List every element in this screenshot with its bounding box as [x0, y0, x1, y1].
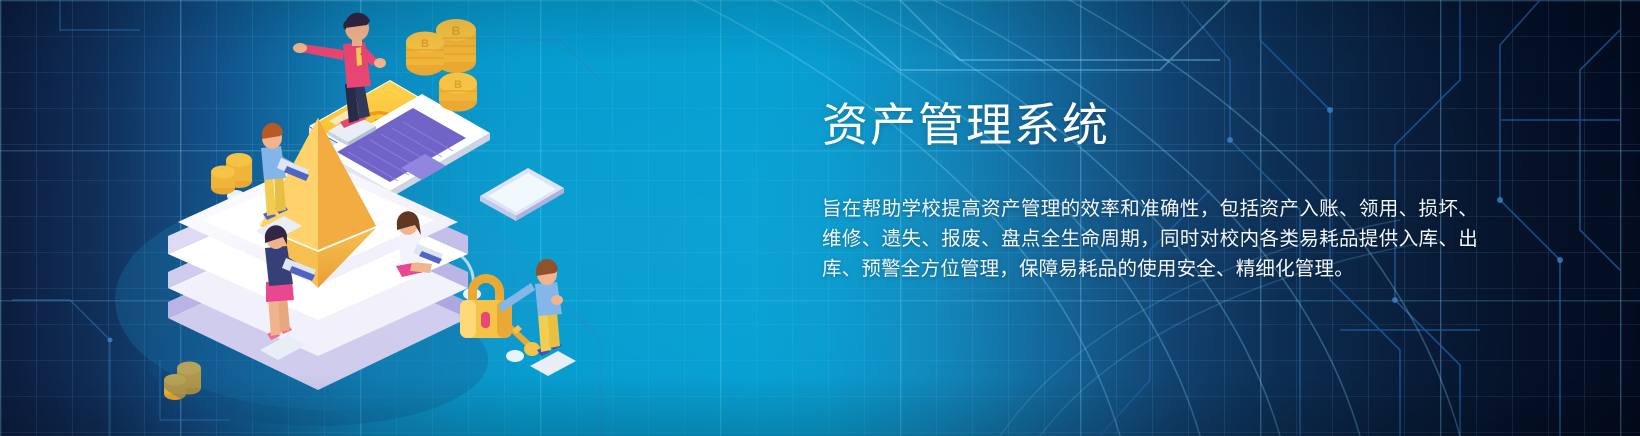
- asset-management-banner: B: [0, 0, 1640, 436]
- svg-text:B: B: [452, 24, 461, 38]
- svg-text:B: B: [454, 79, 462, 91]
- page-title: 资产管理系统: [822, 96, 1482, 154]
- skateboarder-figure: [293, 13, 386, 146]
- coin-stack-small-icon: [211, 153, 252, 195]
- banner-copy: 资产管理系统 旨在帮助学校提高资产管理的效率和准确性，包括资产入账、领用、损坏、…: [822, 96, 1482, 284]
- asset-management-illustration: B: [60, 0, 580, 436]
- svg-text:B: B: [421, 38, 429, 50]
- page-description: 旨在帮助学校提高资产管理的效率和准确性，包括资产入账、领用、损坏、维修、遗失、报…: [822, 194, 1478, 284]
- tablet-icon: [480, 168, 564, 221]
